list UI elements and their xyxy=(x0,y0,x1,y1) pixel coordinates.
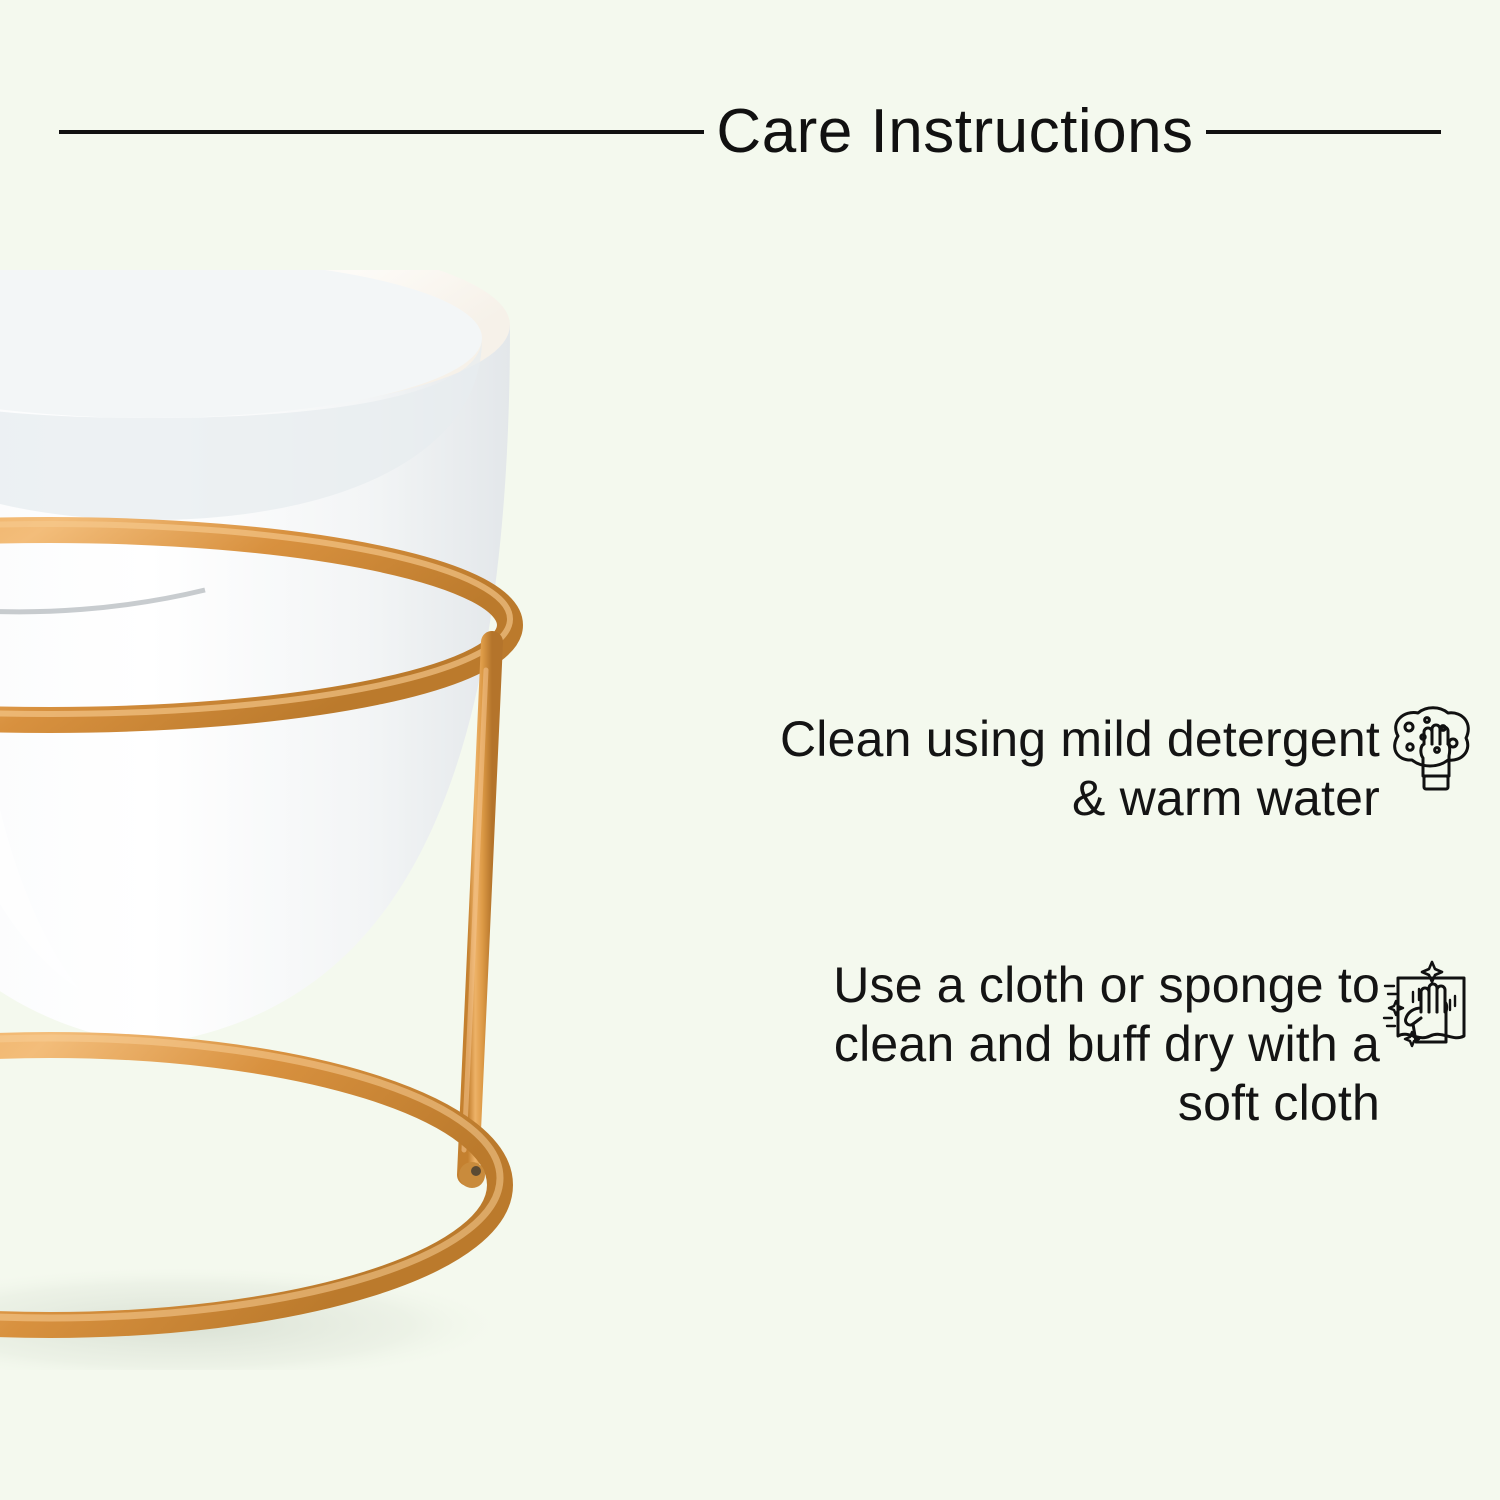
care-item-text: Use a cloth or sponge to clean and buff … xyxy=(744,956,1380,1133)
care-instructions-page: Care Instructions xyxy=(0,0,1500,1500)
title-rule-right xyxy=(1206,130,1441,134)
sponge-hand-icon xyxy=(1380,698,1480,798)
product-photo xyxy=(0,270,550,1370)
care-item: Clean using mild detergent & warm water xyxy=(740,690,1480,828)
title-rule-left xyxy=(59,130,704,134)
care-item: Use a cloth or sponge to clean and buff … xyxy=(740,948,1480,1133)
care-item-text: Clean using mild detergent & warm water xyxy=(764,710,1380,828)
cloth-wipe-hand-icon xyxy=(1380,956,1480,1056)
page-title: Care Instructions xyxy=(716,101,1193,163)
stand-leg xyxy=(468,642,492,1175)
header: Care Instructions xyxy=(0,92,1500,172)
stand-weld-glint xyxy=(471,1166,481,1176)
care-instruction-list: Clean using mild detergent & warm water xyxy=(740,690,1480,1133)
stand-weld-joint xyxy=(459,1162,485,1188)
